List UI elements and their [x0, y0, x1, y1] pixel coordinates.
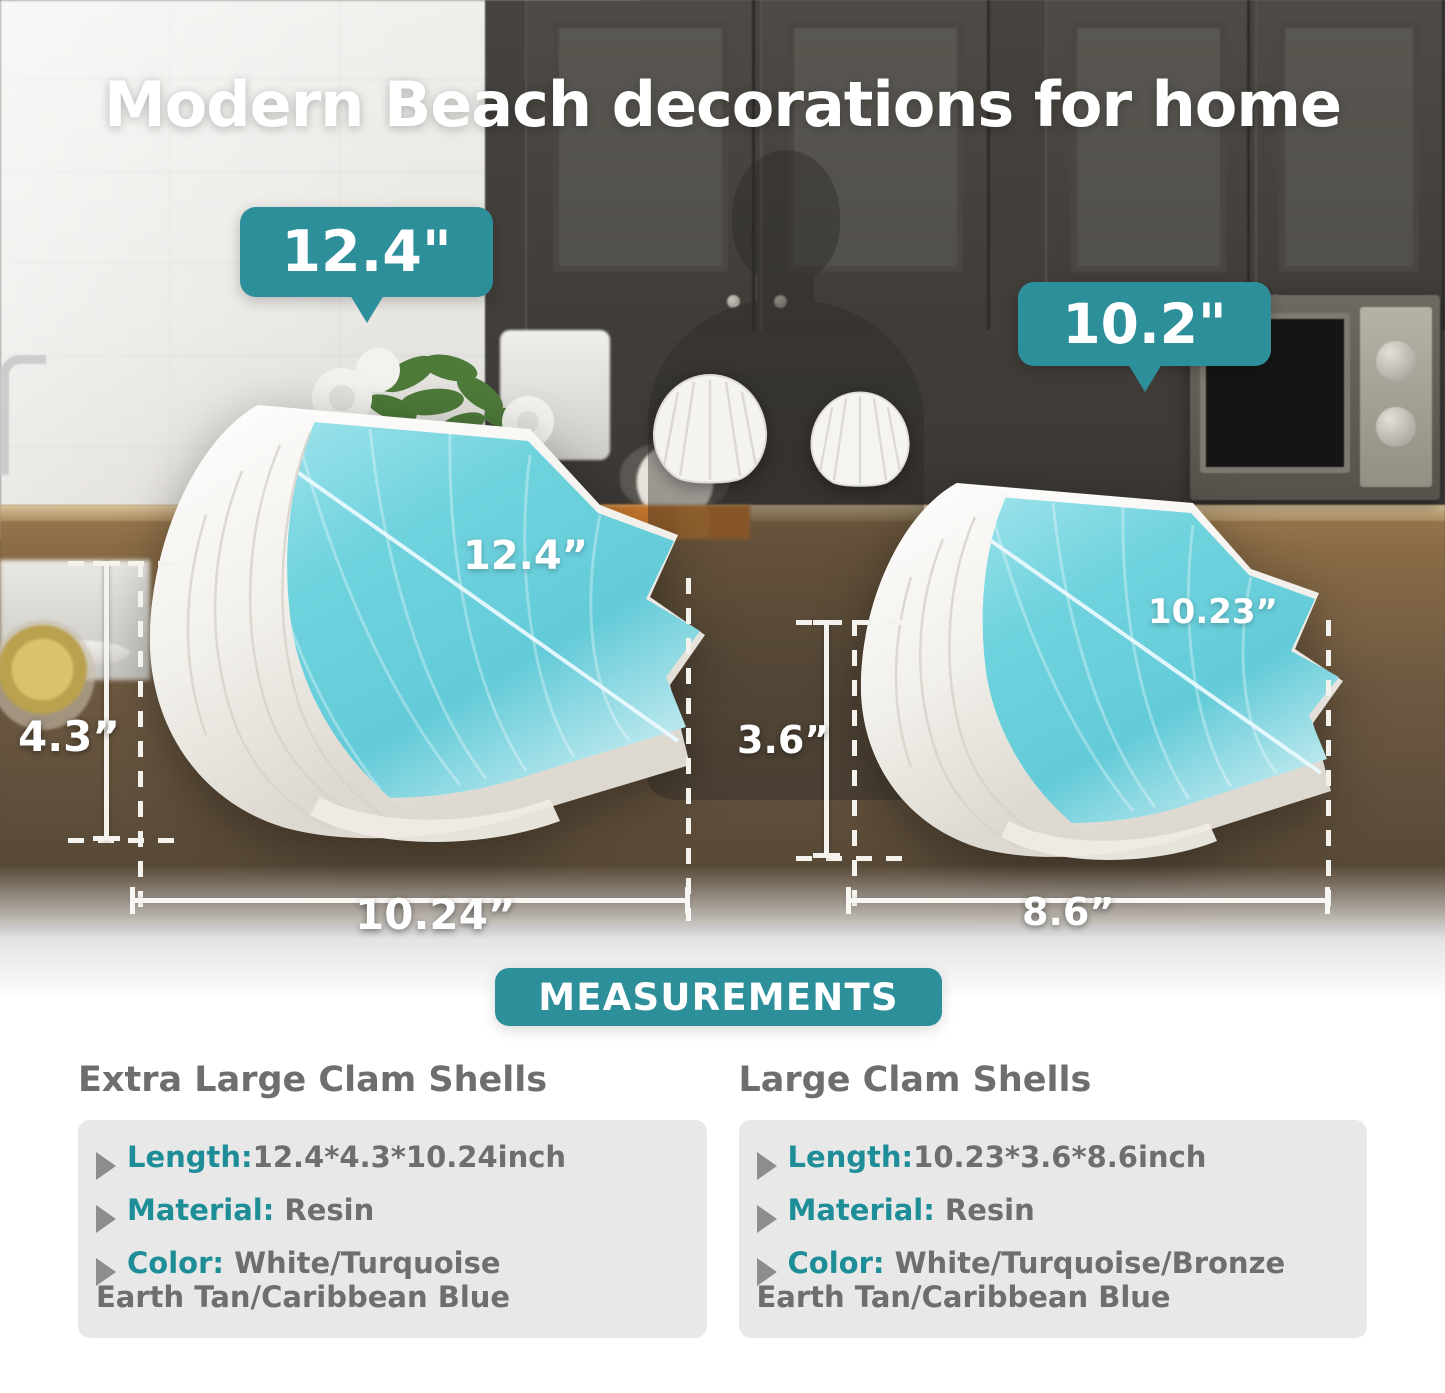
xl-width-label: 10.24”: [355, 890, 515, 939]
microwave-dial: [1376, 341, 1416, 381]
spec-value: White/Turquoise/Bronze: [884, 1246, 1285, 1280]
spec-key: Color:: [127, 1246, 224, 1280]
spec-value: Resin: [274, 1193, 374, 1227]
xl-height-label: 4.3”: [18, 712, 120, 761]
triangle-bullet-icon: [757, 1205, 777, 1233]
callout-bubble-extra-large: 12.4": [240, 207, 493, 297]
microwave-panel: [1360, 307, 1432, 487]
spec-text: Material: Resin: [127, 1193, 374, 1227]
cabinet-glass: [1071, 22, 1226, 272]
spec-list: Length:10.23*3.6*8.6inch Material: Resin…: [739, 1120, 1368, 1338]
faucet: [0, 355, 46, 475]
spec-text: Material: Resin: [788, 1193, 1035, 1227]
spec-text: Length:10.23*3.6*8.6inch: [788, 1140, 1207, 1174]
spec-value-line2: Earth Tan/Caribbean Blue: [757, 1280, 1286, 1314]
large-diagonal-label: 10.23”: [1148, 592, 1278, 632]
cabinet-door: [1045, 0, 1250, 330]
spec-key: Color:: [788, 1246, 885, 1280]
spec-text: Length:12.4*4.3*10.24inch: [127, 1140, 566, 1174]
spec-value: 10.23*3.6*8.6inch: [913, 1140, 1206, 1174]
spec-value-line2: Earth Tan/Caribbean Blue: [96, 1280, 510, 1314]
xl-height-measure-line: [104, 561, 109, 841]
page-title: Modern Beach decorations for home: [0, 68, 1445, 141]
microwave-dial: [1376, 407, 1416, 447]
spec-row-material: Material: Resin: [757, 1193, 1350, 1233]
spec-row-length: Length:12.4*4.3*10.24inch: [96, 1140, 689, 1180]
large-height-label: 3.6”: [737, 718, 829, 762]
measurements-banner: MEASUREMENTS: [495, 968, 942, 1026]
callout-bubble-large: 10.2": [1018, 282, 1271, 366]
triangle-bullet-icon: [96, 1205, 116, 1233]
spec-row-length: Length:10.23*3.6*8.6inch: [757, 1140, 1350, 1180]
spec-row-material: Material: Resin: [96, 1193, 689, 1233]
spec-value: White/Turquoise: [224, 1246, 501, 1280]
spec-key: Length:: [788, 1140, 914, 1174]
spec-list: Length:12.4*4.3*10.24inch Material: Resi…: [78, 1120, 707, 1338]
large-clam-shell: [845, 465, 1350, 870]
spec-card-extra-large: Extra Large Clam Shells Length:12.4*4.3*…: [78, 1060, 707, 1393]
triangle-bullet-icon: [96, 1152, 116, 1180]
spec-text: Color: White/Turquoise Earth Tan/Caribbe…: [127, 1246, 510, 1314]
spec-card-title: Extra Large Clam Shells: [78, 1060, 707, 1100]
spec-value: 12.4*4.3*10.24inch: [253, 1140, 566, 1174]
hero-photo: [0, 0, 1445, 1000]
extra-large-clam-shell: [130, 385, 710, 855]
spec-key: Material:: [788, 1193, 935, 1227]
xl-bottom-extension-line: [68, 838, 188, 843]
xl-diagonal-label: 12.4”: [463, 533, 588, 579]
spec-key: Length:: [127, 1140, 253, 1174]
specification-cards: Extra Large Clam Shells Length:12.4*4.3*…: [0, 1060, 1445, 1393]
spec-card-large: Large Clam Shells Length:10.23*3.6*8.6in…: [739, 1060, 1368, 1393]
spec-row-color: Color: White/Turquoise/Bronze Earth Tan/…: [757, 1246, 1350, 1314]
silhouette-head: [732, 150, 840, 282]
spec-card-title: Large Clam Shells: [739, 1060, 1368, 1100]
spec-text: Color: White/Turquoise/Bronze Earth Tan/…: [788, 1246, 1286, 1314]
spec-row-color: Color: White/Turquoise Earth Tan/Caribbe…: [96, 1246, 689, 1314]
spec-key: Material:: [127, 1193, 274, 1227]
spec-value: Resin: [935, 1193, 1035, 1227]
large-width-label: 8.6”: [1022, 890, 1114, 934]
cabinet-door: [1255, 0, 1445, 330]
product-infographic: Modern Beach decorations for home 12.4" …: [0, 0, 1445, 1393]
cabinet-glass: [1279, 22, 1419, 272]
triangle-bullet-icon: [757, 1152, 777, 1180]
xl-top-extension-line: [68, 561, 188, 566]
